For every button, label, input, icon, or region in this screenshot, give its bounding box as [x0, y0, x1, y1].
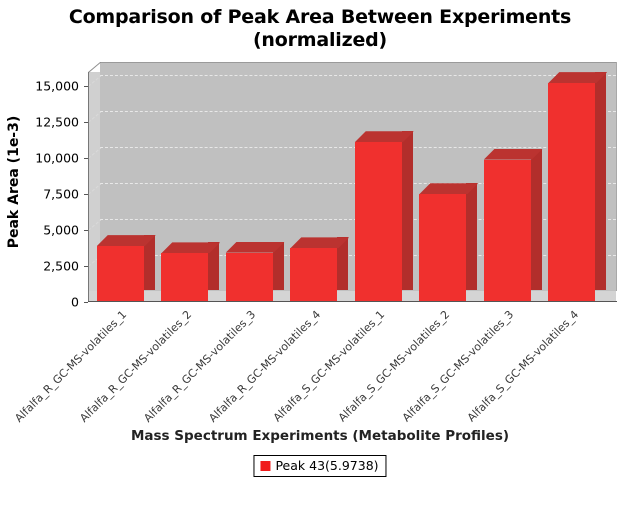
- x-axis-tick-label: Alfalfa_R_GC-MS-volatiles_3: [37, 308, 258, 529]
- bar-top-face-shape: [161, 242, 220, 253]
- y-axis-line: [88, 72, 89, 301]
- bar-front-face: [97, 246, 144, 301]
- bar[interactable]: [97, 235, 156, 301]
- bar[interactable]: [484, 149, 543, 301]
- y-axis-tick-mark: [84, 86, 88, 87]
- bar[interactable]: [355, 131, 414, 301]
- gridline-depth-edge: [88, 147, 101, 158]
- bar-side-face: [595, 72, 606, 290]
- bar-front-face: [484, 160, 531, 301]
- bar[interactable]: [419, 183, 478, 301]
- x-axis-tick-label: Alfalfa_S_GC-MS-volatiles_2: [231, 308, 452, 529]
- legend-swatch-icon: [260, 461, 270, 471]
- bar-top-face: [419, 183, 478, 194]
- y-axis-tick-mark: [84, 158, 88, 159]
- y-axis-tick-mark: [84, 266, 88, 267]
- bar[interactable]: [290, 237, 349, 301]
- bar-front-face: [161, 253, 208, 301]
- bar-top-face: [484, 149, 543, 160]
- y-axis-tick-label: 10,000: [35, 150, 88, 165]
- x-axis-line: [88, 301, 617, 302]
- bar[interactable]: [548, 72, 607, 301]
- x-axis-title: Mass Spectrum Experiments (Metabolite Pr…: [0, 428, 640, 444]
- bar-top-face-shape: [419, 183, 478, 194]
- bar-top-face: [355, 131, 414, 142]
- chart-title-line-2: (normalized): [0, 29, 640, 52]
- x-axis-tick-label: Alfalfa_S_GC-MS-volatiles_3: [295, 308, 516, 529]
- bar-top-face: [161, 242, 220, 253]
- bar-side-face: [466, 183, 477, 290]
- bar-top-face: [548, 72, 607, 83]
- bar-side-face: [531, 149, 542, 290]
- y-axis-tick-mark: [84, 302, 88, 303]
- bar-front-face: [355, 142, 402, 301]
- y-axis-tick-label: 15,000: [35, 78, 88, 93]
- bar-top-face-shape: [290, 237, 349, 248]
- gridline-depth-edge: [88, 75, 101, 86]
- bar-side-face: [402, 131, 413, 290]
- bar-top-face-shape: [226, 242, 285, 253]
- bar-top-face-shape: [548, 72, 607, 83]
- bar-top-face-shape: [97, 235, 156, 246]
- bar-front-face: [226, 253, 273, 301]
- gridline-depth-edge: [88, 219, 101, 230]
- bar-top-face-shape: [484, 149, 543, 160]
- bar[interactable]: [226, 242, 285, 301]
- bar-chart: Comparison of Peak Area Between Experime…: [0, 0, 640, 480]
- y-axis-tick-label: 7,500: [43, 186, 88, 201]
- plot-wall-top-edge: [88, 62, 101, 73]
- y-axis-tick-label: 5,000: [43, 222, 88, 237]
- chart-title-line-1: Comparison of Peak Area Between Experime…: [69, 6, 571, 28]
- bar-top-face: [226, 242, 285, 253]
- x-axis-tick-label: Alfalfa_S_GC-MS-volatiles_4: [360, 308, 581, 529]
- y-axis-tick-label: 2,500: [43, 258, 88, 273]
- y-axis-tick-mark: [84, 194, 88, 195]
- y-axis-title: Peak Area (1e-3): [6, 62, 24, 302]
- bar-front-face: [419, 194, 466, 301]
- legend-label: Peak 43(5.9738): [275, 458, 378, 473]
- x-axis-tick-label: Alfalfa_S_GC-MS-volatiles_1: [166, 308, 387, 529]
- gridline-depth-edge: [88, 111, 101, 122]
- plot-area: 02,5005,0007,50010,00012,50015,000 Alfal…: [88, 62, 628, 302]
- gridline-depth-edge: [88, 183, 101, 194]
- bar-top-face: [97, 235, 156, 246]
- bar-front-face: [290, 248, 337, 301]
- x-axis-tick-label: Alfalfa_R_GC-MS-volatiles_4: [102, 308, 323, 529]
- bar-top-face-shape: [355, 131, 414, 142]
- chart-legend[interactable]: Peak 43(5.9738): [253, 455, 386, 477]
- y-axis-tick-label: 12,500: [35, 114, 88, 129]
- y-axis-tick-mark: [84, 122, 88, 123]
- y-axis-tick-mark: [84, 230, 88, 231]
- bar-top-face: [290, 237, 349, 248]
- gridline: [100, 111, 616, 112]
- chart-title: Comparison of Peak Area Between Experime…: [0, 6, 640, 52]
- bar-front-face: [548, 83, 595, 301]
- bar[interactable]: [161, 242, 220, 301]
- gridline: [100, 75, 616, 76]
